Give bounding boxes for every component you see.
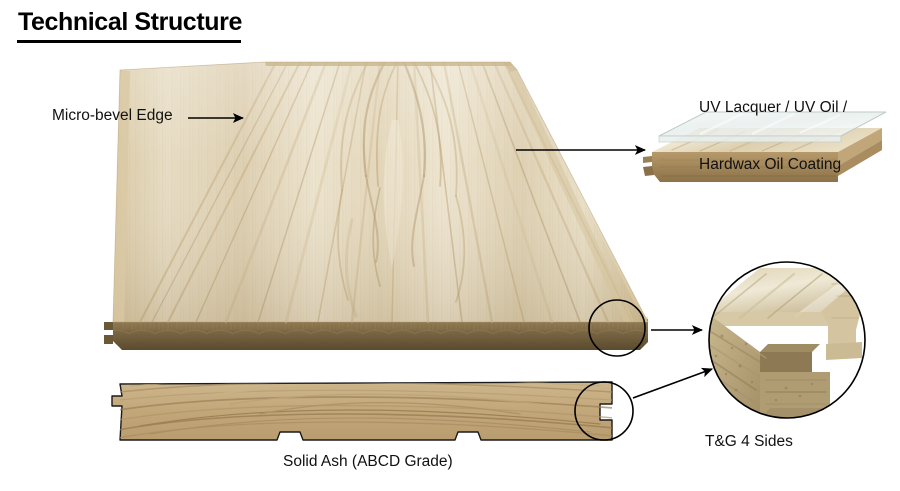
- tg-bevel: [706, 312, 828, 326]
- label-coating-line2: Hardwax Oil Coating: [699, 155, 847, 174]
- tg-lower-lip-edge: [760, 408, 840, 420]
- label-solid-ash: Solid Ash (ABCD Grade): [283, 452, 453, 471]
- tg-tongue-tip: [826, 342, 862, 360]
- arrow-section-to-detail: [633, 369, 712, 398]
- coating-plank-groove-upper: [643, 156, 652, 163]
- section-plank: [112, 378, 633, 440]
- tg-groove-top: [760, 344, 820, 352]
- label-tg-4-sides: T&G 4 Sides: [705, 432, 793, 451]
- plank-left-groove: [104, 322, 113, 344]
- main-plank: [100, 55, 660, 350]
- plank-grain: [100, 55, 660, 330]
- tg-detail-circle: [700, 255, 880, 430]
- label-micro-bevel-edge: Micro-bevel Edge: [52, 106, 173, 125]
- label-coating-line1: UV Lacquer / UV Oil /: [699, 98, 847, 117]
- label-coating: UV Lacquer / UV Oil / Hardwax Oil Coatin…: [699, 60, 847, 212]
- micro-bevel-top: [265, 62, 512, 66]
- diagram-canvas: Technical Structure: [0, 0, 900, 491]
- tg-groove: [760, 352, 812, 372]
